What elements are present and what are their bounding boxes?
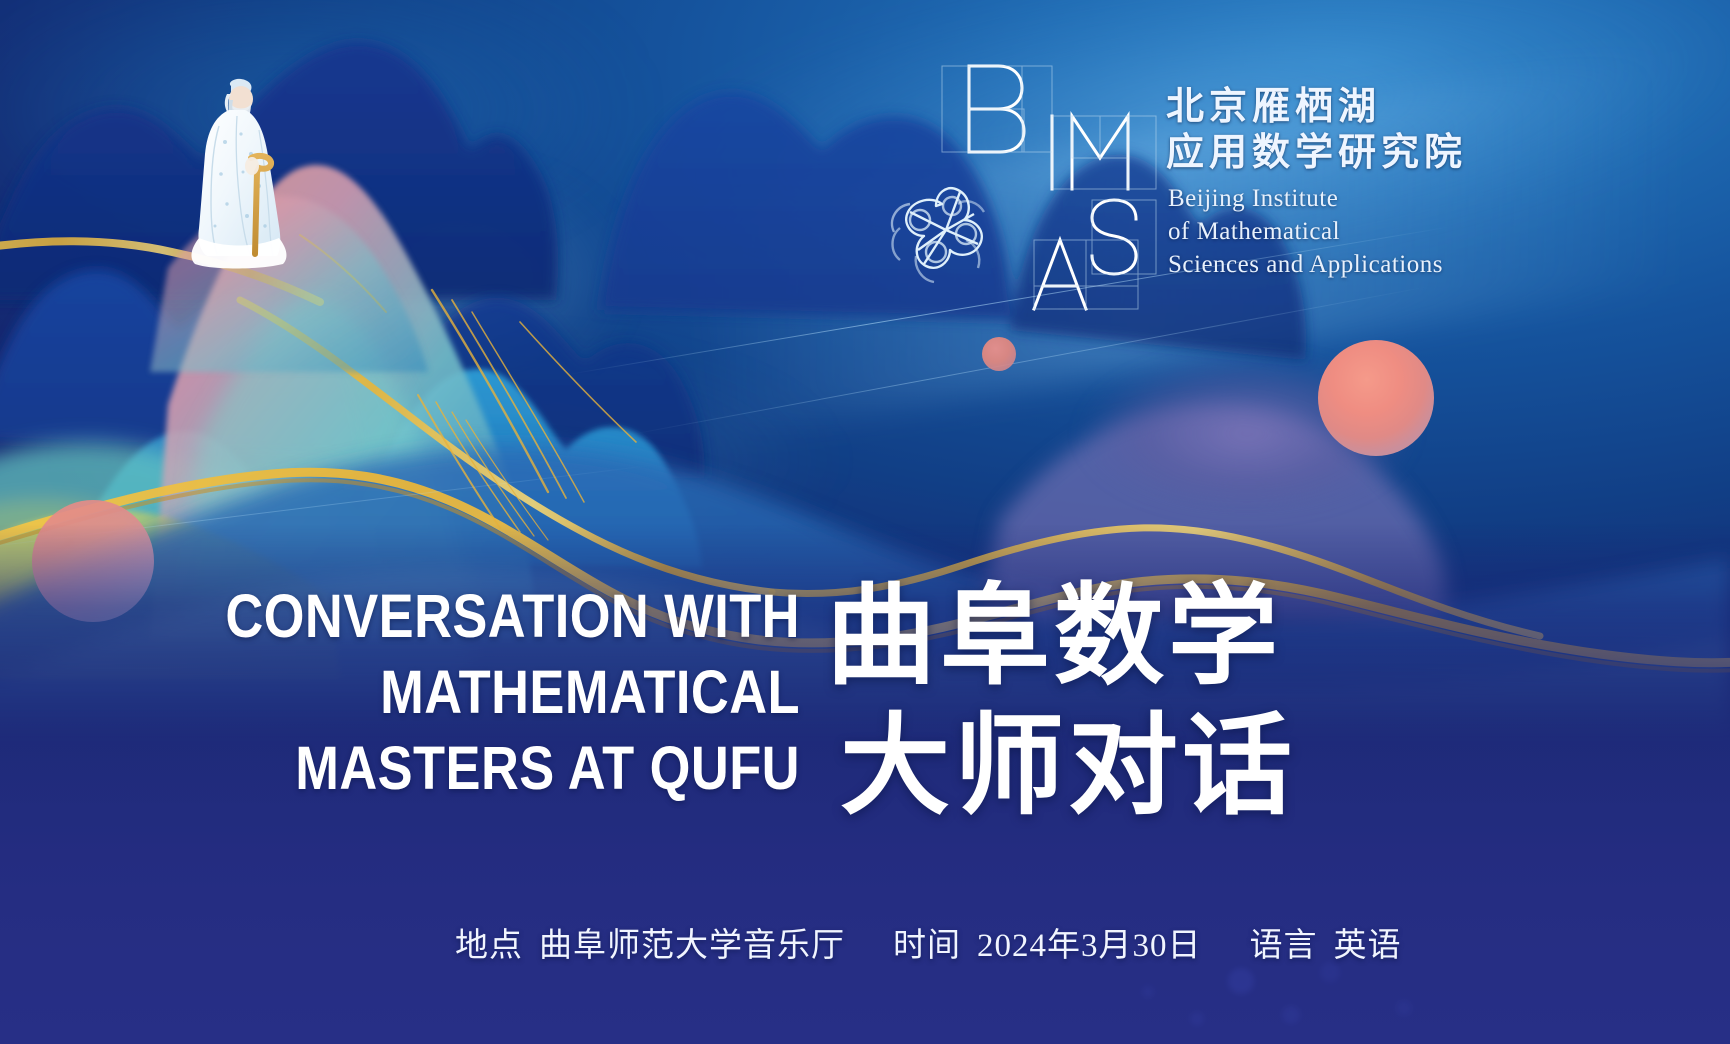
title-chinese-line-2: 大师对话 (826, 702, 1296, 832)
logo-english-line-3: Sciences and Applications (1168, 248, 1443, 281)
coral-orb-large (1318, 340, 1434, 456)
bokeh-dot (1190, 1012, 1204, 1026)
time-value: 2024年3月30日 (977, 928, 1202, 964)
venue-value: 曲阜师范大学音乐厅 (539, 928, 845, 964)
title-english: CONVERSATION WITH MATHEMATICAL MASTERS A… (215, 578, 800, 806)
confucius-sage-figure (185, 76, 295, 276)
title-chinese-line-1: 曲阜数学 (826, 572, 1296, 702)
title-english-line-2: MATHEMATICAL (215, 654, 800, 730)
language-label: 语言 (1250, 928, 1318, 964)
bokeh-dot (1282, 1006, 1300, 1024)
bokeh-dot (1142, 986, 1154, 998)
logo-chinese-name: 北京雁栖湖 应用数学研究院 (1166, 84, 1467, 176)
time-label: 时间 (893, 928, 961, 964)
logo-english-line-1: Beijing Institute (1168, 182, 1443, 215)
logo-english-name: Beijing Institute of Mathematical Scienc… (1168, 182, 1443, 281)
logo-english-line-2: of Mathematical (1168, 215, 1443, 248)
venue-label: 地点 (455, 928, 523, 964)
bokeh-dot (1228, 968, 1254, 994)
bokeh-dot (1396, 1000, 1412, 1016)
logo-chinese-line-1: 北京雁栖湖 (1166, 84, 1467, 130)
logo-chinese-line-2: 应用数学研究院 (1166, 130, 1467, 176)
title-english-line-1: CONVERSATION WITH (215, 578, 800, 654)
poster-canvas: 北京雁栖湖 应用数学研究院 Beijing Institute of Mathe… (0, 0, 1730, 1044)
language-value: 英语 (1334, 928, 1402, 964)
title-english-line-3: MASTERS AT QUFU (215, 730, 800, 806)
flower-emblem (892, 188, 984, 282)
coral-orb-small (982, 337, 1016, 371)
bimsa-logo: 北京雁栖湖 应用数学研究院 Beijing Institute of Mathe… (874, 54, 1474, 320)
title-chinese: 曲阜数学 大师对话 (826, 572, 1296, 832)
event-meta-line: 地点曲阜师范大学音乐厅时间2024年3月30日语言英语 (455, 918, 1395, 966)
bimsa-logo-mark (874, 54, 1174, 320)
